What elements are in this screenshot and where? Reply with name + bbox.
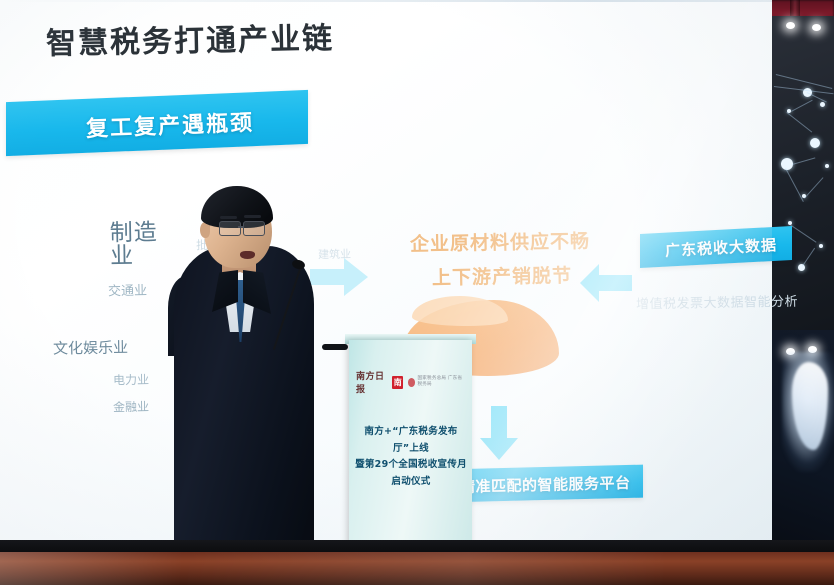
industry-label-culture-entertainment: 文化娱乐业	[53, 336, 128, 358]
event-line-1: 南方+“广东税务发布厅”上线	[352, 424, 470, 457]
event-line-2: 暨第29个全国税收宣传月	[352, 457, 470, 474]
partner-logo: 国家税务总局 广东省税务局	[408, 376, 466, 387]
banner-problem-label: 复工复产遇瓶颈	[85, 105, 254, 143]
industry-label-finance: 金融业	[113, 398, 149, 416]
event-line-3: 启动仪式	[352, 474, 470, 491]
podium-logo-row: 南方日报 南 国家税务总局 广东省税务局	[356, 372, 466, 392]
led-panel-network	[772, 16, 834, 338]
arrow-right-icon	[308, 256, 370, 298]
industry-label-manufacturing: 制造业	[110, 222, 167, 270]
speaker-eyebrow	[244, 215, 261, 218]
glasses-icon	[243, 221, 265, 236]
arrow-left-icon	[578, 262, 634, 304]
network-node	[819, 244, 823, 248]
problem-line-2: 上下游产销脱节	[432, 261, 572, 290]
stage-light	[812, 24, 821, 31]
arrow-down-icon	[478, 404, 520, 462]
screen-edge	[0, 0, 772, 2]
microphone-base	[322, 344, 348, 350]
glasses-bridge	[238, 226, 244, 228]
conference-stage-photo: 智慧税务打通产业链 复工复产遇瓶颈 制造业 交通业 文化娱乐业 电力业 金融业 …	[0, 0, 834, 585]
publisher-logo: 南方日报	[356, 369, 387, 395]
speaker-mouth	[240, 251, 255, 259]
network-node	[820, 102, 825, 107]
network-node	[810, 138, 820, 148]
slide-title: 智慧税务打通产业链	[46, 13, 335, 63]
floor-reflection	[0, 552, 834, 585]
network-node	[825, 164, 829, 168]
caption-bigdata-analysis: 增值税发票大数据智能分析	[636, 291, 798, 313]
stage-light	[786, 22, 795, 29]
industry-label-transport: 交通业	[108, 280, 147, 300]
podium-event-banner: 南方+“广东税务发布厅”上线 暨第29个全国税收宣传月 启动仪式	[352, 424, 470, 491]
glasses-icon	[219, 221, 241, 236]
banner-platform-label: 精准匹配的智能服务平台	[460, 472, 631, 497]
speaker-eyebrow	[220, 216, 237, 219]
tax-bureau-mark-icon	[408, 378, 415, 387]
partner-logo-label: 国家税务总局 广东省税务局	[417, 376, 466, 387]
industry-label-power: 电力业	[113, 371, 149, 389]
logo-badge-icon: 南	[392, 376, 403, 389]
problem-line-1: 企业原材料供应不畅	[410, 226, 590, 256]
